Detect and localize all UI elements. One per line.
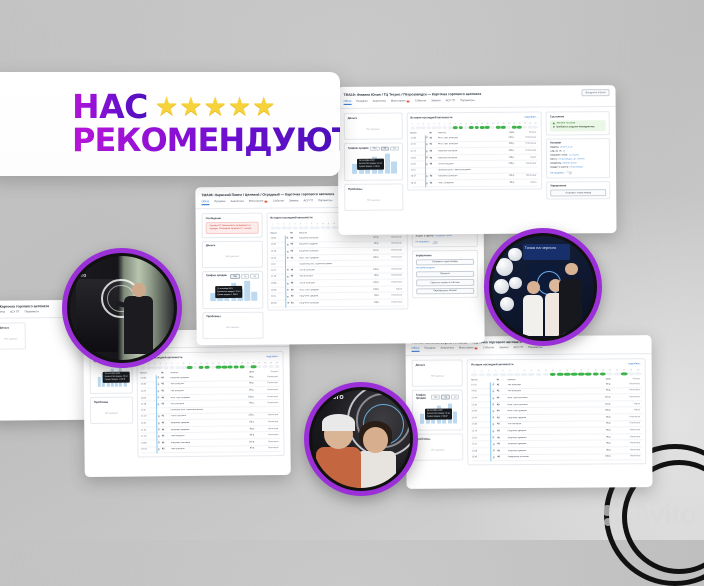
activity-cells	[471, 372, 642, 377]
hour-label: 10	[458, 123, 463, 125]
cell-payment: Наличные	[379, 268, 404, 270]
activity-cell	[490, 125, 495, 129]
range-selector[interactable]: 30д 7д 1д	[370, 146, 399, 151]
activity-card: История последней активности подробнее..…	[406, 112, 542, 191]
avito-wordmark: Avito	[632, 501, 696, 528]
hour-label: 10	[320, 223, 325, 225]
transaction-rows: 13:58☕43Капучино средний90 р.Наличные13:…	[140, 374, 280, 454]
hour-label: 21	[517, 122, 522, 124]
tab-item-zamena[interactable]: Замена	[499, 346, 508, 351]
cell-price: 90 р.	[237, 435, 255, 437]
dashboard-panel-tma19[interactable]: ТМА19: Фомина Юлия / ТЦ Тетрис / Петроза…	[337, 85, 616, 235]
hour-label: 3	[281, 223, 286, 225]
activity-cell	[458, 126, 463, 130]
tooltip-sum: Сумма продаж: 1 530 ₽	[105, 379, 128, 382]
hour-label: 11	[326, 223, 331, 225]
problems-card: Проблемы Нет данных	[202, 311, 263, 339]
chart-tooltip: 29 сентября 2023 Количество продаж: 18 ш…	[215, 286, 242, 298]
chart-x-labels: ·······	[420, 426, 457, 427]
cell-product: Капучино большой	[297, 250, 362, 253]
info-value[interactable]: Петрозаводск, пр. Ленина	[558, 158, 584, 160]
problems-card-title: Проблемы	[348, 187, 399, 190]
activity-cell	[496, 125, 501, 129]
table-row[interactable]: 10:22☕42Чай с лимоном90 р.Карта	[411, 180, 539, 187]
activity-cell	[326, 226, 331, 230]
hour-label: 6	[169, 363, 174, 365]
sales-chart-card[interactable]: График продаж 30д 7д 1д 29 сентября 2023…	[202, 270, 263, 309]
cell-product: Капучино средний	[169, 422, 237, 425]
table-row[interactable]: 10:45☕40Американо большой100 р.Наличные	[472, 454, 643, 462]
money-card: Деньги Нет данных	[412, 359, 464, 386]
x-tick-label: ·	[119, 387, 122, 390]
control-button[interactable]: Обновить	[416, 271, 474, 278]
info-value[interactable]: ТЦ Тетрис	[568, 154, 578, 156]
cell-price: 120 р.	[362, 269, 379, 271]
hour-label: 13	[210, 362, 215, 364]
activity-cell	[535, 372, 542, 376]
cell-payment: Наличные	[255, 447, 281, 449]
info-value[interactable]: Jetinno JL28	[560, 147, 572, 149]
activity-details-link[interactable]: подробнее...	[628, 363, 641, 365]
tab-item[interactable]: АСУ ПТ	[10, 310, 20, 314]
th-name: Напиток	[505, 378, 588, 381]
cell-number: 40	[497, 404, 506, 406]
tab-item-monitoring[interactable]: Мониторинг1	[459, 346, 478, 351]
cell-time: 11:41	[271, 269, 286, 271]
hour-label: 4	[426, 123, 431, 125]
hour-label: 1	[471, 370, 478, 372]
cell-product: Флэт Уайт большой	[505, 403, 588, 406]
cell-time: 11:31	[472, 444, 491, 446]
activity-cell	[234, 365, 239, 369]
info-value[interactable]: Фомина Юлия	[562, 162, 576, 164]
cell-time: 12:30	[472, 424, 491, 426]
chart-bar	[98, 377, 101, 387]
tab-item-obzor[interactable]: Обзор	[201, 200, 209, 205]
hour-label: 14	[564, 369, 571, 371]
activity-cell	[287, 226, 292, 230]
tab-item-asupt[interactable]: АСУ ПТ	[303, 199, 313, 204]
range-7d[interactable]: 7д	[441, 395, 450, 400]
sales-bar-chart: 29 сентября 2023 Количество продаж: 18 ш…	[206, 281, 259, 305]
control-button[interactable]: Сбросить ошибки и счётчики	[416, 279, 474, 286]
hour-label: 9	[528, 369, 535, 371]
tab-item-asupt[interactable]: АСУ ПТ	[446, 99, 456, 104]
activity-cell	[426, 126, 431, 130]
tab-item-obzor[interactable]: Обзор	[344, 100, 352, 105]
cell-payment: Наличные	[611, 390, 642, 392]
tab-item-asupt[interactable]: АСУ ПТ	[514, 346, 524, 351]
hour-label: 10	[193, 362, 198, 364]
activity-cell	[474, 125, 479, 129]
th-num: №	[497, 379, 506, 381]
cell-payment: Наличные	[255, 441, 281, 443]
cell-time: 12:31	[410, 144, 424, 146]
cell-payment: Наличные	[379, 275, 404, 277]
panel-title: ТМА19: Фомина Юлия / ТЦ Тетрис / Петроза…	[344, 91, 482, 96]
activity-cell	[485, 125, 490, 129]
cell-number: 43	[497, 443, 506, 445]
activity-cell	[493, 373, 500, 377]
tab-item-parametry[interactable]: Параметры	[460, 99, 474, 104]
tab-item-parametry[interactable]: Параметры	[318, 199, 332, 204]
activity-cell	[276, 226, 281, 230]
tab-badge: 1	[407, 100, 410, 102]
range-30d[interactable]: 30д	[370, 146, 380, 151]
cell-product: Капучино большой	[297, 237, 362, 240]
info-label: Сер. № ТА:	[550, 151, 562, 153]
cell-time: 09:48	[271, 302, 286, 304]
hour-label: 15	[571, 369, 578, 371]
hour-label: 15	[485, 122, 490, 124]
cell-payment: Наличные	[611, 449, 642, 451]
cell-time: 11:10	[411, 170, 425, 172]
cell-price: 90 р.	[236, 383, 254, 385]
cell-product: Американо большой	[506, 456, 589, 459]
range-1d[interactable]: 1д	[250, 274, 259, 279]
cell-price: 120 р.	[236, 415, 254, 417]
activity-cell	[557, 372, 564, 376]
cell-number: 43	[162, 422, 169, 424]
activity-cell	[628, 372, 635, 376]
info-value[interactable]: 19	[563, 151, 565, 153]
activity-cell	[500, 373, 507, 377]
activity-cell	[571, 372, 578, 376]
info-label: Место:	[550, 158, 557, 160]
tab-item-sobytiya[interactable]: События	[483, 346, 494, 351]
tab-item-analitika[interactable]: Аналитика	[230, 200, 243, 205]
cell-price: 120 р.	[362, 282, 379, 284]
range-30d[interactable]: 30д	[431, 395, 441, 400]
cell-price: 90 р.	[236, 428, 254, 430]
problems-card: Проблемы Нет данных	[412, 433, 464, 460]
cell-product: Флэт Уайт средний	[298, 288, 363, 291]
cell-time: 12:12	[410, 150, 424, 152]
cell-payment: Карта	[514, 156, 538, 158]
activity-cell	[578, 372, 585, 376]
tab-item[interactable]: Замена	[0, 311, 5, 315]
cell-time: 11:08	[472, 450, 491, 452]
th-price: Цена	[589, 378, 611, 380]
cell-payment: Карта	[611, 409, 642, 411]
cell-product: Чай с лимоном	[436, 182, 498, 184]
cell-payment: Карта	[515, 182, 539, 184]
activity-cell	[193, 365, 198, 369]
export-excel-button[interactable]: Выгрузить в Excel	[582, 89, 610, 96]
message-card-title: Сообщение	[206, 216, 259, 219]
transaction-rows: 12:48☕41Флэт Уайт большой110 р.Наличные1…	[410, 135, 538, 188]
hour-label: 8	[181, 363, 186, 365]
cell-payment: Наличные	[611, 429, 642, 431]
activity-cell	[152, 366, 157, 370]
range-30d[interactable]: 30д	[230, 274, 240, 279]
machine-sign-text: Точка на черного	[523, 244, 570, 260]
cell-time: 11:52	[472, 437, 491, 439]
activity-cell	[169, 366, 174, 370]
sales-chart-card[interactable]: График продаж 30д 7д 1д 29 сентября 2023…	[412, 389, 464, 430]
hour-label: 19	[599, 369, 606, 371]
cell-product: Капучино средний	[506, 449, 589, 452]
cell-product: Капучино средний	[298, 295, 363, 298]
hour-label: 23	[528, 122, 533, 124]
activity-cell	[187, 365, 192, 369]
th-time: Время	[270, 232, 285, 234]
tab-item-prodazhi[interactable]: Продажи	[356, 100, 367, 105]
range-1d[interactable]: 1д	[451, 395, 460, 400]
photo-team-with-balloons: Точка на черного	[484, 228, 602, 346]
tab-item[interactable]: Параметры	[25, 310, 39, 314]
table-row[interactable]: 10:33☕42Чай большой90 р.Наличные	[141, 446, 280, 454]
tab-item-analitika[interactable]: Аналитика	[373, 100, 386, 105]
cell-product: Латте большой	[297, 269, 362, 272]
activity-card: История последней активности подробнее..…	[136, 351, 284, 457]
activity-details-link[interactable]: подробнее...	[524, 117, 537, 119]
sales-card-title: График продаж	[206, 274, 227, 277]
status-online-text: Автомат на связи	[557, 122, 576, 126]
chart-x-labels: ·······	[98, 389, 127, 390]
activity-cell	[528, 125, 533, 129]
info-label: Владелец:	[550, 162, 561, 164]
hour-label: 11	[199, 362, 204, 364]
range-selector[interactable]: 30д 7д 1д	[230, 274, 259, 279]
cell-number: 42	[161, 390, 168, 392]
activity-cell	[315, 226, 320, 230]
hour-label: 4	[493, 370, 500, 372]
tab-item-zamena[interactable]: Замена	[289, 199, 298, 204]
cell-payment: Наличные	[379, 236, 404, 238]
cell-price: 100 р.	[362, 256, 379, 258]
chart-tooltip: 29 сентября 2023 Количество продаж: 18 ш…	[357, 158, 384, 170]
activity-details-link[interactable]: подробнее...	[266, 356, 279, 358]
cell-time: 12:48	[141, 404, 156, 406]
cell-number: 42	[162, 449, 169, 451]
no-sale-toggle[interactable]	[566, 172, 572, 175]
hour-label: 15	[222, 362, 227, 364]
status-banner: Автомат на связи ▰Требуется загрузка инг…	[550, 120, 606, 132]
recommendation-banner: НАС ★★★★★ РЕКОМЕНДУЮТ!	[0, 72, 340, 176]
star-icon: ★	[252, 93, 275, 119]
hour-label: 7	[175, 363, 180, 365]
range-7d[interactable]: 7д	[241, 274, 250, 279]
cell-price: 90 р.	[236, 389, 254, 391]
cell-payment: Наличные	[254, 376, 280, 378]
tab-item-parametry[interactable]: Параметры	[528, 346, 542, 351]
cell-product: Чай большой	[297, 275, 362, 278]
activity-cell	[216, 365, 221, 369]
hour-label: 2	[478, 370, 485, 372]
tab-item-monitoring[interactable]: Мониторинг1	[249, 200, 268, 205]
money-card-title: Деньги	[0, 326, 22, 329]
cup-icon: ☕	[490, 450, 497, 453]
cell-payment: Наличные	[254, 402, 280, 404]
transaction-rows: 14:12☕42Чай большой90 р.Наличные14:01☕42…	[471, 381, 642, 461]
cell-price: 110 р.	[498, 143, 515, 145]
no-sale-toggle[interactable]	[431, 241, 437, 244]
activity-cell	[585, 372, 592, 376]
hour-label: 20	[251, 362, 256, 364]
activity-cell	[507, 373, 514, 377]
hour-label: 24	[274, 362, 279, 364]
tab-item-monitoring[interactable]: Мониторинг1	[391, 99, 410, 104]
sales-bar-chart: 29 сентября 2023 Количество продаж: 18 ш…	[416, 403, 460, 427]
cell-product: Капучино средний	[506, 436, 589, 439]
tab-item-sobytiya[interactable]: События	[273, 199, 284, 204]
cell-time: 10:45	[472, 457, 491, 459]
hour-label: 16	[490, 122, 495, 124]
chart-bar	[385, 153, 390, 173]
cup-icon: ☕	[490, 417, 497, 420]
empty-state-text: Нет данных	[416, 442, 460, 457]
tab-item-prodazhi[interactable]: Продажи	[214, 200, 225, 205]
cell-price: 100 р.	[589, 410, 611, 412]
activity-cell	[304, 226, 309, 230]
control-card[interactable]: Управление Отправить чашку вперёд	[546, 181, 610, 200]
cell-payment: Наличные	[379, 301, 404, 303]
hour-label: 1	[270, 223, 275, 225]
th-pay: Оплата	[514, 131, 538, 133]
tooltip-sum: Сумма продаж: 1 530 ₽	[359, 166, 382, 169]
cell-payment: Наличные	[611, 436, 642, 438]
activity-cell	[309, 226, 314, 230]
info-label: Входит в группу:	[416, 235, 434, 237]
th-num: №	[161, 372, 168, 374]
cell-product: Промывка узла. Сервисный режим	[297, 263, 362, 266]
tab-item-obzor[interactable]: Обзор	[412, 347, 420, 352]
activity-title: История последней активности	[471, 363, 513, 366]
cell-payment: Наличные	[255, 421, 281, 423]
tooltip-sum: Сумма продаж: 1 530 ₽	[427, 415, 450, 418]
machine-info-row: Входит в группу: Петрозаводск	[550, 166, 606, 170]
control-card[interactable]: Управление Отправить чашку вперёд Настро…	[412, 250, 479, 298]
activity-cell	[257, 365, 262, 369]
cell-product: Латте большой	[297, 282, 362, 285]
control-button[interactable]: Отправить чашку вперёд	[416, 259, 474, 266]
hour-label: 11	[542, 369, 549, 371]
empty-state-text: Нет данных	[94, 405, 129, 420]
hour-label: 3	[485, 370, 492, 372]
cell-price: 90 р.	[362, 243, 379, 245]
cell-product: Чай большой	[168, 390, 236, 393]
cell-payment: Наличные	[514, 143, 538, 145]
cell-time: 10:58	[271, 283, 286, 285]
activity-cell	[164, 366, 169, 370]
cell-number: 42	[162, 403, 169, 405]
hour-label: 4	[287, 223, 292, 225]
cell-price: 110 р.	[362, 237, 379, 239]
star-icon: ★	[155, 93, 178, 119]
table-row[interactable]: 09:48☕43Капучино большой110 р.Наличные	[271, 299, 404, 307]
cell-price: 110 р.	[237, 441, 255, 443]
control-button[interactable]: Отправить чашку вперёд	[550, 190, 606, 197]
tab-item-zamena[interactable]: Замена	[431, 99, 440, 104]
activity-cell	[599, 372, 606, 376]
problems-card-title: Проблемы	[94, 400, 129, 403]
cell-payment: Наличные	[611, 383, 642, 385]
panel-title: ТМА06: Нарвский Павел / Целевой / Отрадн…	[201, 192, 334, 197]
hour-label: 24	[533, 122, 538, 124]
hour-label: 22	[263, 362, 268, 364]
empty-state-text: Нет данных	[348, 192, 399, 207]
hour-label: 9	[187, 362, 192, 364]
cell-product: Флэт Уайт большой	[436, 143, 498, 145]
cell-product: Промывка узла. Сервисный режим	[169, 409, 237, 412]
range-7d[interactable]: 7д	[380, 146, 389, 151]
activity-cell	[621, 372, 628, 376]
activity-cell	[146, 366, 151, 370]
x-tick-label: ·	[115, 387, 118, 390]
cell-payment: Наличные	[514, 136, 538, 138]
activity-cell	[464, 126, 469, 130]
cell-price: 110 р.	[589, 397, 611, 399]
cell-time: 12:14	[472, 430, 491, 432]
hour-label: 7	[304, 223, 309, 225]
range-selector[interactable]: 30д 7д 1д	[431, 395, 460, 400]
dashboard-panel-tma08[interactable]: ТМА08: Мельник Сергей / Ачинск — Карточк…	[405, 335, 652, 489]
activity-cell	[522, 125, 527, 129]
machine-info-row: Входит в группу: Отрадный Район	[416, 235, 474, 239]
cell-time: 13:40	[140, 384, 155, 386]
hour-label: 5	[164, 363, 169, 365]
hour-label: 8	[309, 223, 314, 225]
th-time: Время	[410, 132, 424, 134]
activity-cell	[501, 125, 506, 129]
activity-cell	[432, 126, 437, 130]
hour-label: 2	[416, 123, 421, 125]
cell-number: 43	[497, 437, 506, 439]
cell-time: 13:28	[471, 404, 490, 406]
cell-payment: Карта	[379, 288, 404, 290]
cell-product: Чай большой	[168, 383, 236, 386]
activity-cell	[263, 365, 268, 369]
cell-time: 11:55	[410, 157, 424, 159]
info-value[interactable]: Отрадный Район	[435, 235, 452, 237]
activity-cell	[199, 365, 204, 369]
cell-price: 110 р.	[362, 250, 379, 252]
cell-payment: Наличные	[611, 416, 642, 418]
cell-payment: Наличные	[515, 175, 539, 177]
control-card-title: Управление	[550, 185, 606, 188]
th-price: Цена	[498, 131, 515, 133]
tab-item-prodazhi[interactable]: Продажи	[424, 347, 435, 352]
activity-cell	[471, 373, 478, 377]
control-button[interactable]: Перезагрузить автомат	[416, 288, 474, 295]
hour-label: 5	[432, 123, 437, 125]
cell-payment: Наличные	[379, 295, 404, 297]
activity-cell	[274, 365, 279, 369]
cell-time: 10:22	[411, 182, 425, 184]
problems-card-title: Проблемы	[416, 437, 459, 440]
cell-number: 40	[497, 410, 506, 412]
hour-label: 8	[521, 370, 528, 372]
status-card: Состояние Автомат на связи ▰Требуется за…	[546, 111, 610, 135]
activity-cell	[245, 365, 250, 369]
cell-number: 43	[162, 429, 169, 431]
hour-label: 7	[514, 370, 521, 372]
tab-item-sobytiya[interactable]: События	[415, 99, 426, 104]
range-1d[interactable]: 1д	[390, 146, 399, 151]
online-dot-icon	[553, 123, 555, 125]
tab-item-analitika[interactable]: Аналитика	[441, 347, 454, 352]
hour-label: 10	[535, 369, 542, 371]
cell-product: Флэт Уайт средний	[506, 410, 589, 413]
cell-time: 14:12	[471, 384, 490, 386]
th-time: Время	[471, 379, 490, 381]
money-card-title: Деньги	[206, 244, 259, 247]
activity-cell	[222, 365, 227, 369]
info-value[interactable]: Петрозаводск	[569, 166, 583, 168]
cell-number: 42	[497, 424, 506, 426]
cell-number: 43	[497, 430, 506, 432]
